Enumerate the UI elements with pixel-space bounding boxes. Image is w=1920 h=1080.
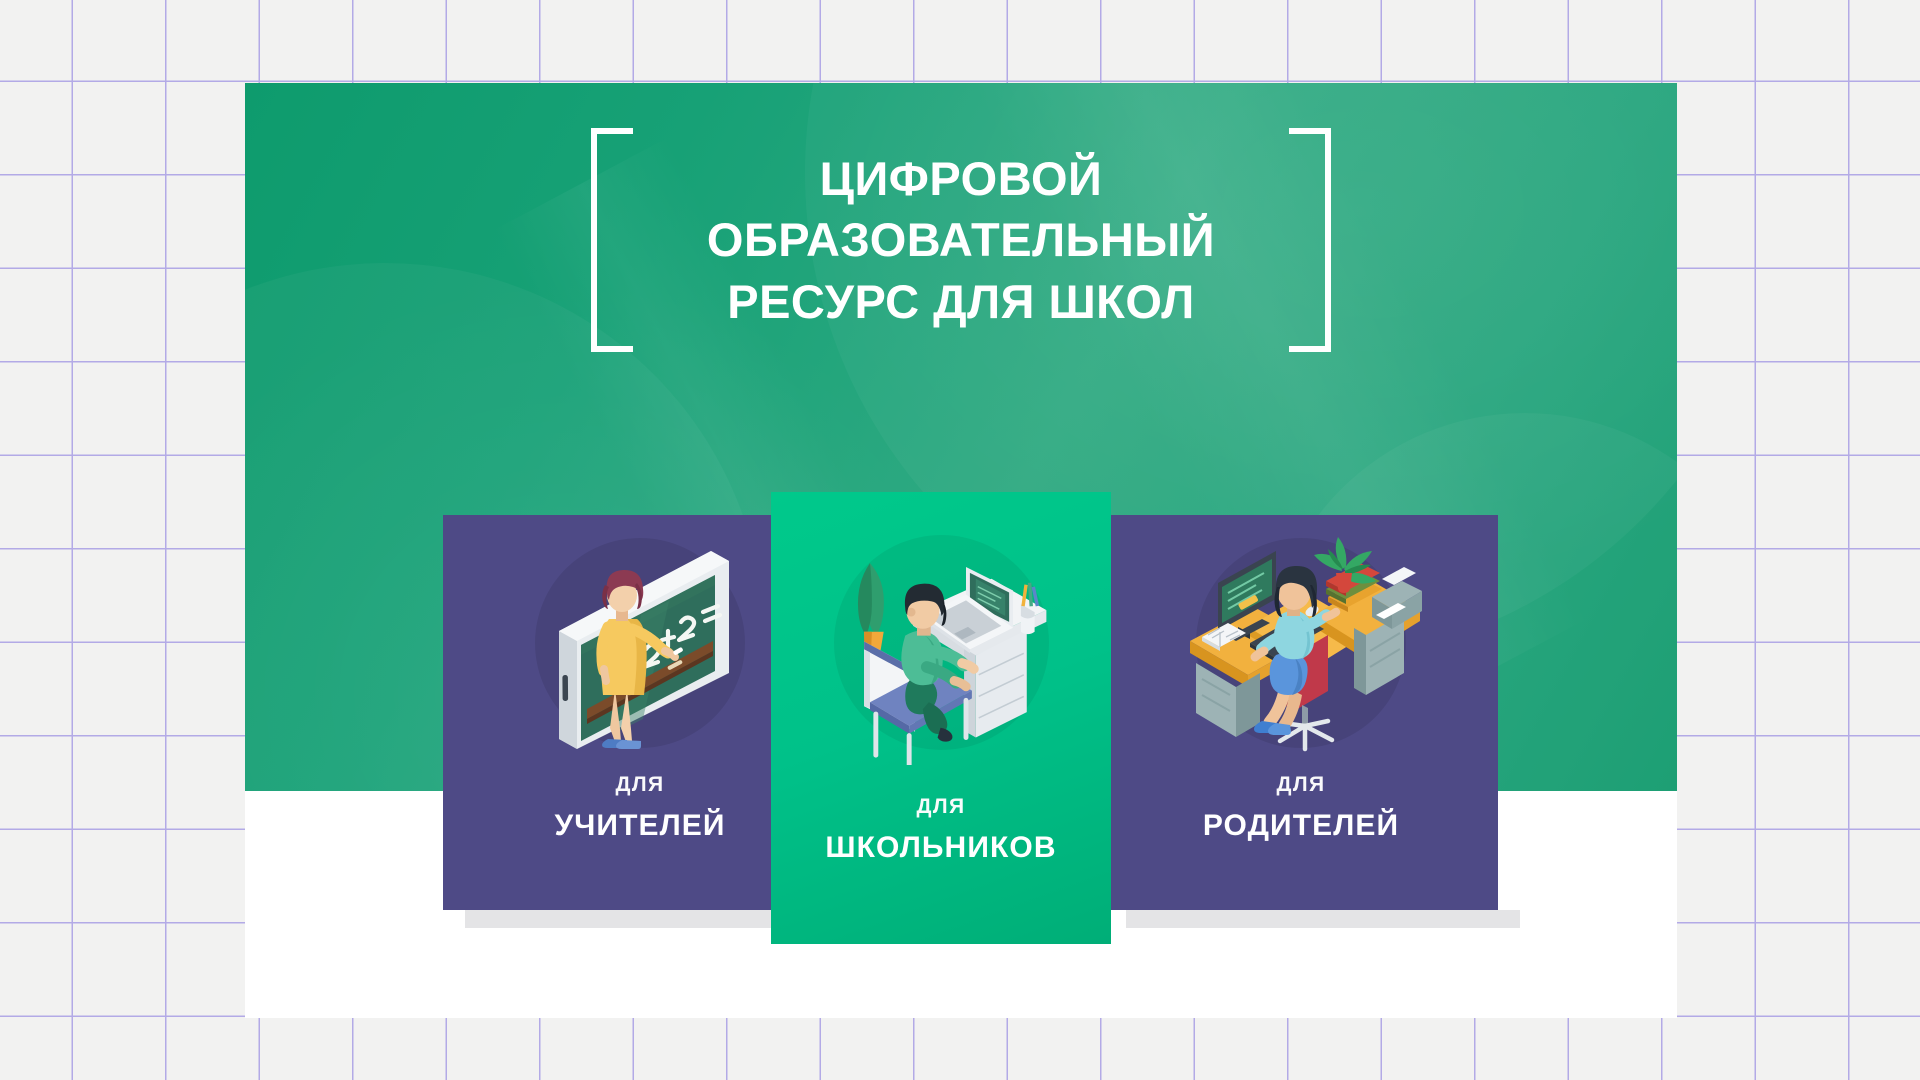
card-illustration-area [771,492,1111,792]
card-label-big: УЧИТЕЛЕЙ [554,811,725,841]
card-labels: ДЛЯ РОДИТЕЛЕЙ [1203,774,1399,841]
card-students[interactable]: ДЛЯ ШКОЛЬНИКОВ [771,492,1111,944]
card-label-big: РОДИТЕЛЕЙ [1203,811,1399,841]
parent-at-office-desk-icon [1176,523,1426,763]
card-label-big: ШКОЛЬНИКОВ [825,833,1056,863]
card-illustration-area [1104,515,1498,770]
card-parents[interactable]: ДЛЯ РОДИТЕЛЕЙ [1104,515,1498,910]
card-labels: ДЛЯ УЧИТЕЛЕЙ [554,774,725,841]
card-shadow [1126,910,1520,928]
student-at-laptop-desk-icon [819,520,1064,765]
teacher-at-chalkboard-icon [515,523,765,763]
card-label-small: ДЛЯ [554,774,725,795]
cards-row: ДЛЯ УЧИТЕЛЕЙ [0,0,1920,1080]
card-label-small: ДЛЯ [825,796,1056,817]
card-labels: ДЛЯ ШКОЛЬНИКОВ [825,796,1056,863]
card-label-small: ДЛЯ [1203,774,1399,795]
